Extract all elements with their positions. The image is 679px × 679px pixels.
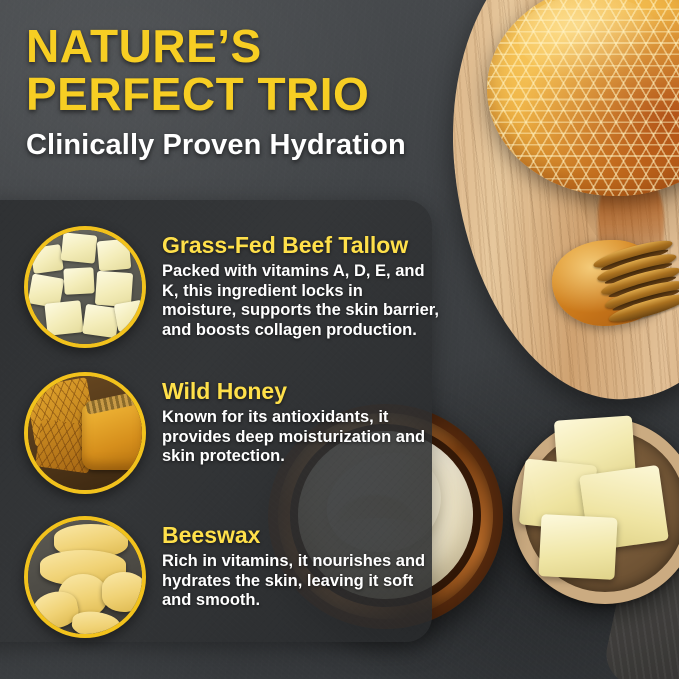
ingredient-text-beeswax: Beeswax Rich in vitamins, it nourishes a… xyxy=(162,516,440,611)
ingredient-item-wild-honey: Wild Honey Known for its antioxidants, i… xyxy=(24,372,440,494)
headline-subtitle: Clinically Proven Hydration xyxy=(26,128,456,162)
honeycomb-round-photo xyxy=(487,0,679,196)
ingredient-item-beef-tallow: Grass-Fed Beef Tallow Packed with vitami… xyxy=(24,226,440,348)
ingredient-description: Known for its antioxidants, it provides … xyxy=(162,408,440,467)
ingredient-description: Rich in vitamins, it nourishes and hydra… xyxy=(162,552,440,611)
headline-block: NATURE’S PERFECT TRIO Clinically Proven … xyxy=(26,22,456,162)
tallow-cubes-photo xyxy=(28,230,142,344)
ingredient-description: Packed with vitamins A, D, E, and K, thi… xyxy=(162,262,440,340)
honeycomb-and-honey-jar-photo xyxy=(28,376,142,490)
ingredient-thumbnail-tallow xyxy=(24,226,146,348)
ingredient-thumbnail-beeswax xyxy=(24,516,146,638)
headline-line-1: NATURE’S xyxy=(26,22,456,70)
ingredient-item-beeswax: Beeswax Rich in vitamins, it nourishes a… xyxy=(24,516,440,638)
ingredient-text-honey: Wild Honey Known for its antioxidants, i… xyxy=(162,372,440,467)
infographic-canvas: NATURE’S PERFECT TRIO Clinically Proven … xyxy=(0,0,679,679)
headline-line-2: PERFECT TRIO xyxy=(26,70,456,118)
ingredient-thumbnail-honey xyxy=(24,372,146,494)
ingredient-title: Grass-Fed Beef Tallow xyxy=(162,232,440,259)
ingredient-title: Wild Honey xyxy=(162,378,440,405)
tallow-block xyxy=(538,514,617,580)
ingredient-text-tallow: Grass-Fed Beef Tallow Packed with vitami… xyxy=(162,226,440,340)
beeswax-discs-photo xyxy=(28,520,142,634)
ingredient-title: Beeswax xyxy=(162,522,440,549)
